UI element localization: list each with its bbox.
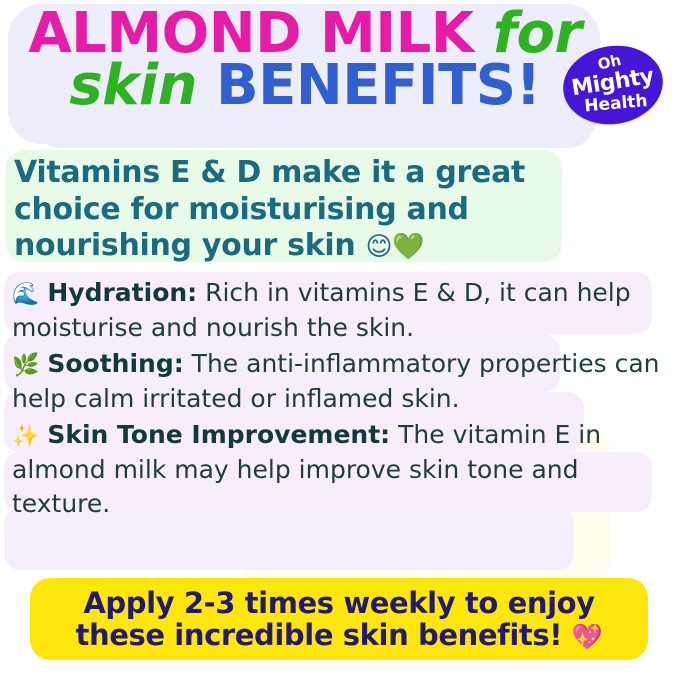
headline-line-2: skin BENEFITS! [0,60,610,112]
wave-icon: 🌊 [12,282,39,307]
bullet-lead-skin-tone: Skin Tone Improvement: [47,420,390,449]
list-item: ✨ Skin Tone Improvement: The vitamin E i… [12,418,662,522]
poster-subtitle: Vitamins E & D make it a great choice fo… [14,155,614,265]
list-item: 🌊 Hydration: Rich in vitamins E & D, it … [12,276,662,345]
sparkles-icon: ✨ [12,424,39,449]
headline-skin: skin [69,53,216,118]
bullet-lead-hydration: Hydration: [47,278,197,307]
cta-line-1: Apply 2-3 times weekly to enjoy [83,586,594,620]
benefits-list: 🌊 Hydration: Rich in vitamins E & D, it … [12,276,662,524]
smiling-face-icon: 😊 [366,232,393,262]
headline-benefits: BENEFITS! [216,53,541,118]
bullet-lead-soothing: Soothing: [47,349,183,378]
call-to-action-banner: Apply 2-3 times weekly to enjoy these in… [30,578,648,660]
poster-headline: ALMOND MILK for skin BENEFITS! [0,8,610,111]
cta-line-2: these incredible skin benefits! [75,618,571,652]
call-to-action-text: Apply 2-3 times weekly to enjoy these in… [69,587,608,652]
herb-icon: 🌿 [12,353,39,378]
list-item: 🌿 Soothing: The anti-inflammatory proper… [12,347,662,416]
infographic-poster: ALMOND MILK for skin BENEFITS! Oh Mighty… [0,0,675,675]
sparkling-heart-icon: 💖 [572,622,603,651]
subtitle-text: Vitamins E & D make it a great choice fo… [14,155,525,263]
green-heart-icon: 💚 [392,232,424,262]
